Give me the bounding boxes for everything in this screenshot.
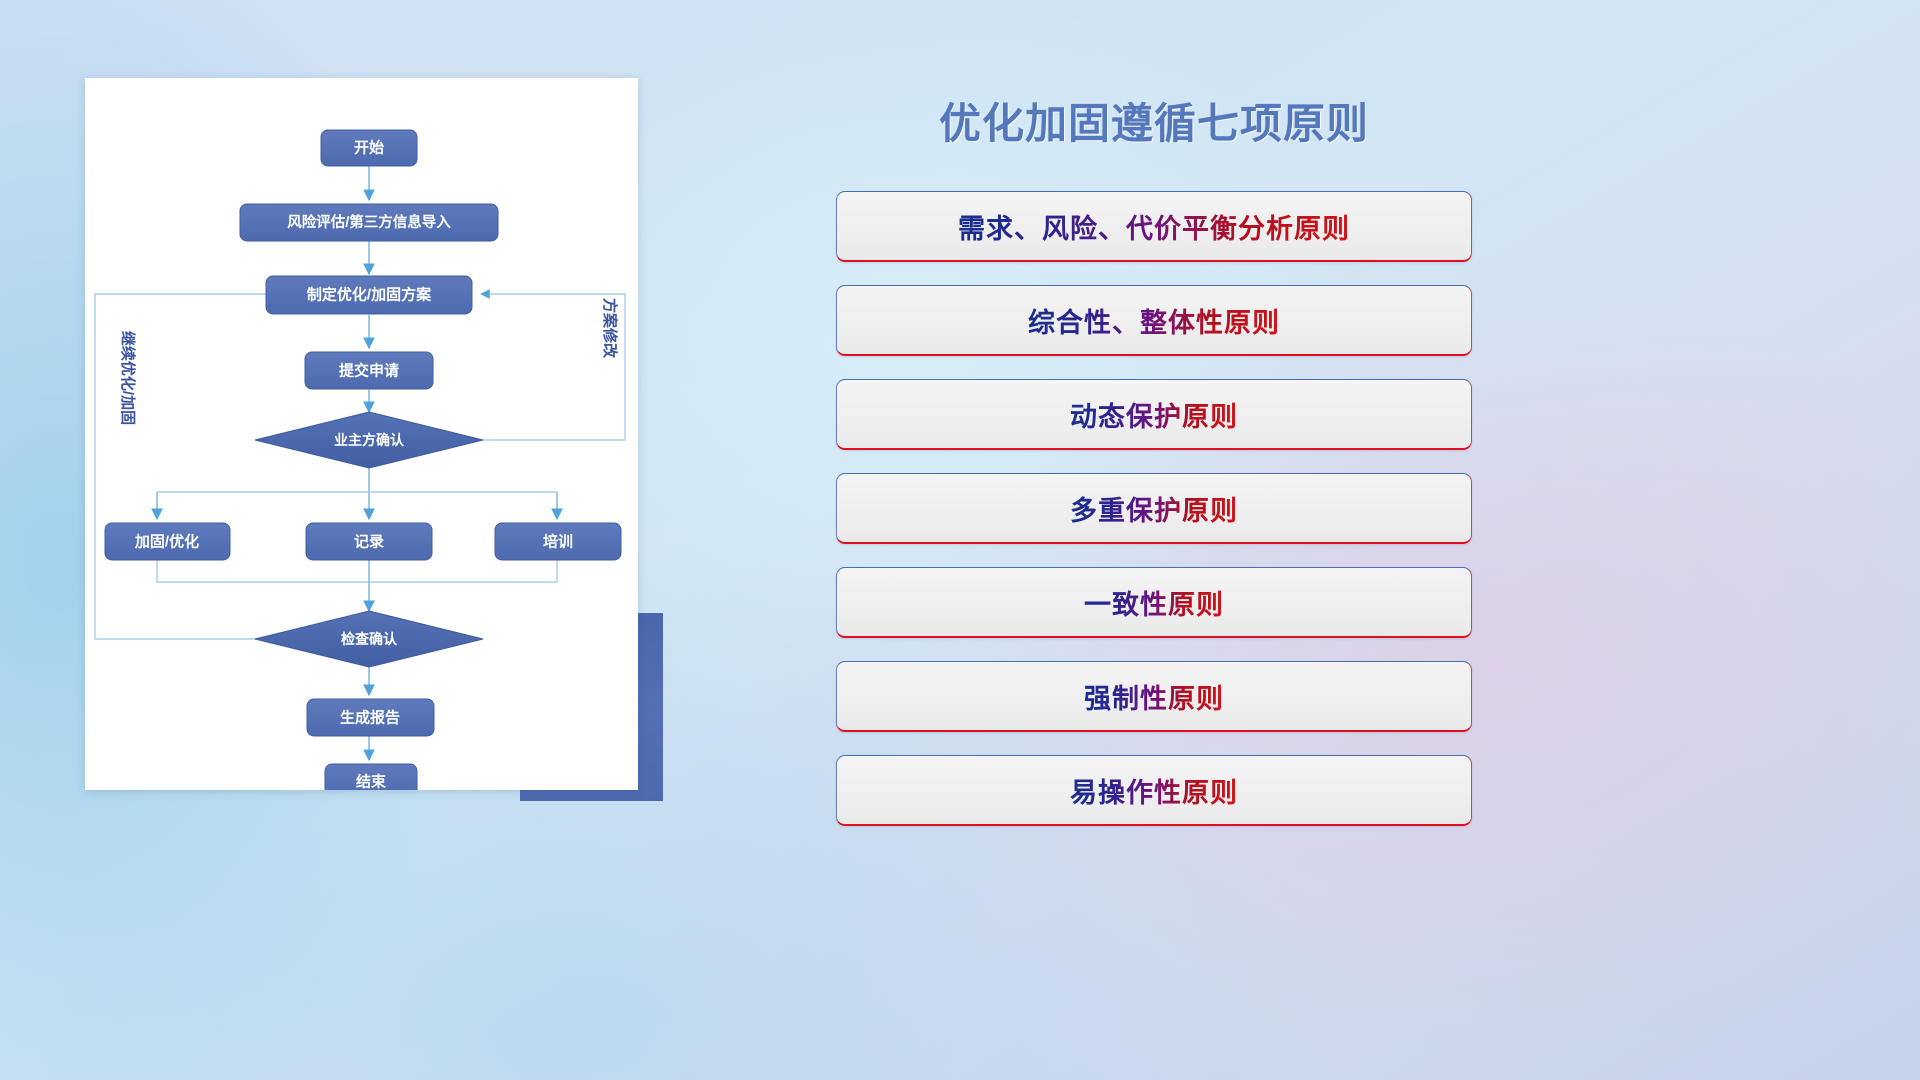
flow-node-plan[interactable]: 制定优化/加固方案	[266, 276, 472, 314]
principle-label-1: 需求、风险、代价平衡分析原则	[958, 207, 1350, 246]
flow-edge-label-revise: 方案修改	[601, 298, 619, 359]
flow-edge-label-continue: 继续优化/加固	[119, 331, 137, 425]
flow-node-reinforce-label: 加固/优化	[134, 533, 199, 551]
principle-card-7[interactable]: 易操作性原则	[836, 755, 1472, 826]
principle-card-1[interactable]: 需求、风险、代价平衡分析原则	[836, 191, 1472, 262]
edge-merge-bar	[157, 560, 557, 582]
flow-node-owner-confirm[interactable]: 业主方确认	[255, 412, 483, 468]
flow-node-plan-label: 制定优化/加固方案	[307, 286, 432, 304]
flow-node-training[interactable]: 培训	[495, 523, 621, 560]
flow-node-end-label: 结束	[356, 773, 387, 791]
principle-card-2[interactable]: 综合性、整体性原则	[836, 285, 1472, 356]
flow-node-reinforce[interactable]: 加固/优化	[105, 523, 230, 560]
flow-node-check-confirm[interactable]: 检查确认	[255, 611, 483, 667]
principle-label-2: 综合性、整体性原则	[1028, 301, 1280, 340]
principles-list: 需求、风险、代价平衡分析原则 综合性、整体性原则 动态保护原则 多重保护原则 一…	[836, 191, 1472, 849]
panel-title: 优化加固遵循七项原则	[836, 90, 1472, 151]
flow-node-start-label: 开始	[354, 139, 384, 157]
principle-card-3[interactable]: 动态保护原则	[836, 379, 1472, 450]
flow-node-record[interactable]: 记录	[306, 523, 432, 560]
flow-node-check-confirm-label: 检查确认	[341, 631, 398, 647]
flow-node-submit-label: 提交申请	[339, 362, 399, 380]
flow-node-report-label: 生成报告	[340, 709, 400, 727]
principle-label-3: 动态保护原则	[1070, 395, 1238, 434]
flow-node-submit[interactable]: 提交申请	[305, 352, 433, 389]
principles-panel: 优化加固遵循七项原则 需求、风险、代价平衡分析原则 综合性、整体性原则 动态保护…	[836, 78, 1876, 1018]
flow-node-start[interactable]: 开始	[321, 130, 417, 166]
principle-card-5[interactable]: 一致性原则	[836, 567, 1472, 638]
principle-label-5: 一致性原则	[1084, 583, 1224, 622]
slide-canvas: 开始 风险评估/第三方信息导入 制定优化/加固方案 提交申请 业主方确认	[0, 0, 1920, 1080]
flowchart-card: 开始 风险评估/第三方信息导入 制定优化/加固方案 提交申请 业主方确认	[85, 78, 638, 790]
flow-node-owner-confirm-label: 业主方确认	[334, 432, 405, 448]
flow-node-report[interactable]: 生成报告	[307, 699, 434, 736]
flowchart-canvas: 开始 风险评估/第三方信息导入 制定优化/加固方案 提交申请 业主方确认	[85, 78, 638, 790]
flow-node-record-label: 记录	[354, 534, 384, 551]
flow-node-risk-label: 风险评估/第三方信息导入	[287, 213, 451, 231]
flow-node-risk[interactable]: 风险评估/第三方信息导入	[240, 204, 498, 241]
principle-label-6: 强制性原则	[1084, 677, 1224, 716]
principle-card-4[interactable]: 多重保护原则	[836, 473, 1472, 544]
flow-node-training-label: 培训	[543, 533, 573, 551]
principle-label-7: 易操作性原则	[1070, 771, 1238, 810]
principle-label-4: 多重保护原则	[1070, 489, 1238, 528]
flow-edge-label-continue-text: 继续优化/加固	[119, 331, 137, 425]
principle-card-6[interactable]: 强制性原则	[836, 661, 1472, 732]
flow-node-end[interactable]: 结束	[325, 764, 417, 790]
flow-edge-label-revise-text: 方案修改	[601, 298, 619, 359]
